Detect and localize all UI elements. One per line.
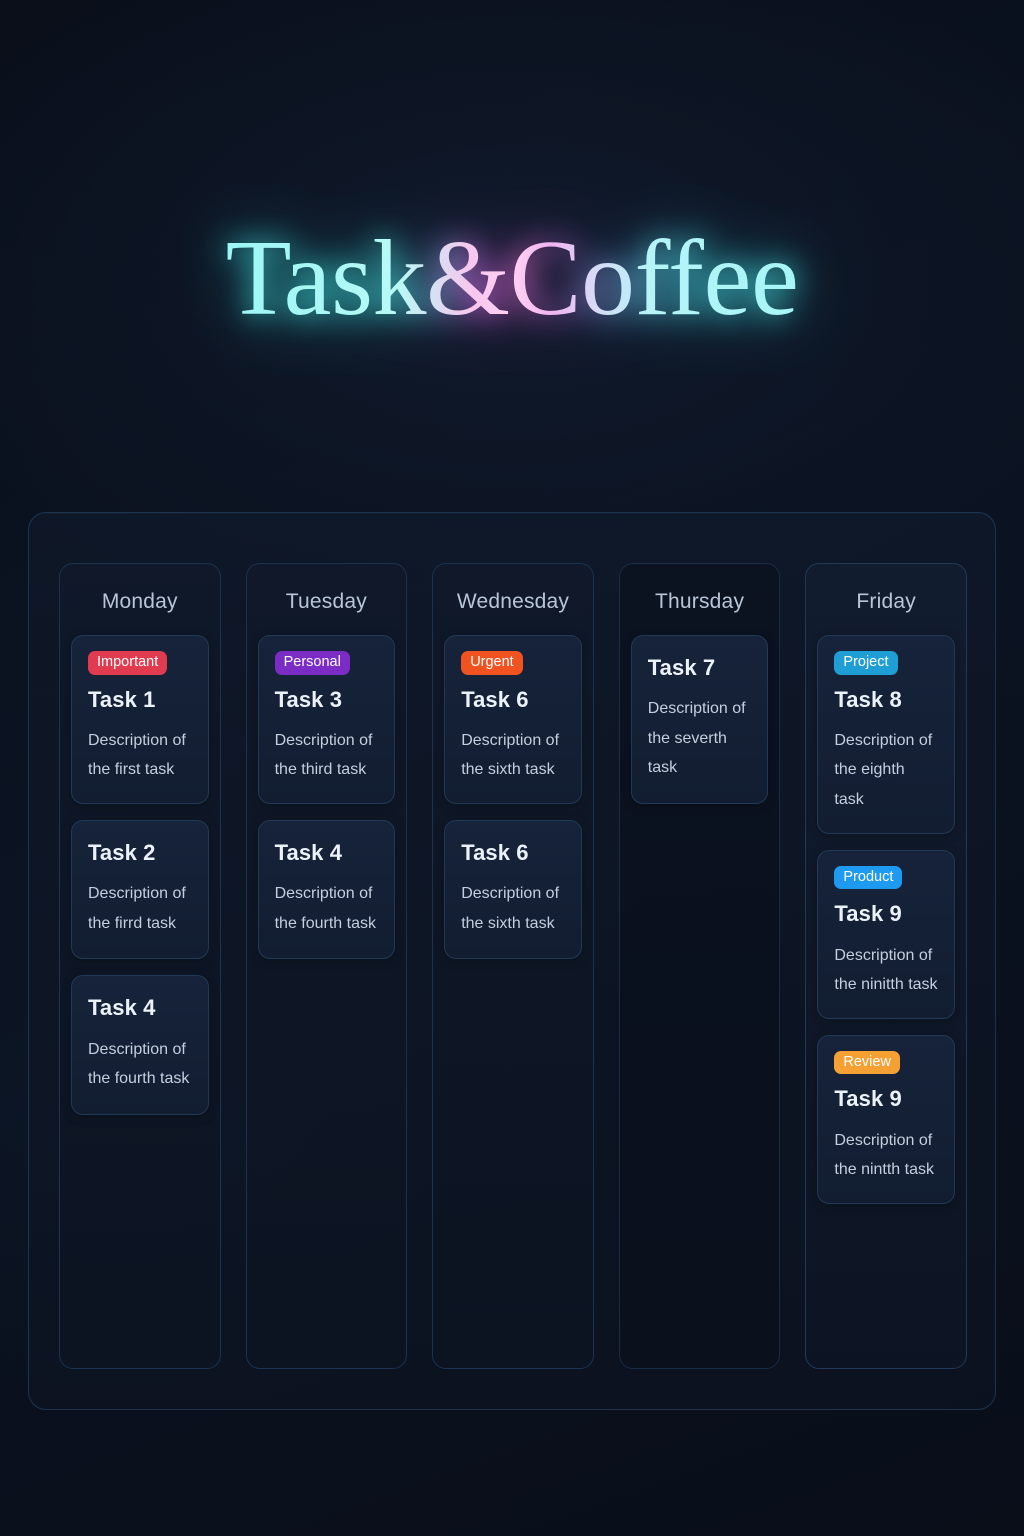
task-card-list: Task 7Description of the severth task xyxy=(631,635,769,804)
task-card[interactable]: PersonalTask 3Description of the third t… xyxy=(258,635,396,804)
task-title: Task 9 xyxy=(834,1087,938,1111)
task-card[interactable]: UrgentTask 6Description of the sixth tas… xyxy=(444,635,582,804)
task-badge: Personal xyxy=(275,651,350,675)
task-badge: Urgent xyxy=(461,651,523,675)
day-column-title: Tuesday xyxy=(258,564,396,635)
task-title: Task 4 xyxy=(88,996,192,1020)
task-card[interactable]: ReviewTask 9Description of the nintth ta… xyxy=(817,1035,955,1204)
day-column-friday[interactable]: FridayProjectTask 8Description of the ei… xyxy=(805,563,967,1369)
task-description: Description of the ninitth task xyxy=(834,941,938,1000)
day-column-wednesday[interactable]: WednesdayUrgentTask 6Description of the … xyxy=(432,563,594,1369)
task-description: Description of the severth task xyxy=(648,694,752,783)
task-title: Task 6 xyxy=(461,841,565,865)
task-title: Task 6 xyxy=(461,688,565,712)
task-badge: Project xyxy=(834,651,897,675)
task-card-list: UrgentTask 6Description of the sixth tas… xyxy=(444,635,582,959)
day-column-thursday[interactable]: ThursdayTask 7Description of the severth… xyxy=(619,563,781,1369)
task-badge: Review xyxy=(834,1051,900,1075)
task-card[interactable]: Task 2Description of the firrd task xyxy=(71,820,209,959)
task-card[interactable]: Task 7Description of the severth task xyxy=(631,635,769,804)
task-badge: Important xyxy=(88,651,167,675)
task-card-list: ImportantTask 1Description of the first … xyxy=(71,635,209,1115)
task-description: Description of the nintth task xyxy=(834,1126,938,1185)
task-card[interactable]: ImportantTask 1Description of the first … xyxy=(71,635,209,804)
day-column-monday[interactable]: MondayImportantTask 1Description of the … xyxy=(59,563,221,1369)
day-column-tuesday[interactable]: TuesdayPersonalTask 3Description of the … xyxy=(246,563,408,1369)
task-title: Task 9 xyxy=(834,902,938,926)
app-title: Task&Coffee Task&Coffee Task&Coffee xyxy=(226,222,799,335)
task-card[interactable]: Task 4Description of the fourth task xyxy=(71,975,209,1114)
day-column-title: Thursday xyxy=(631,564,769,635)
task-title: Task 1 xyxy=(88,688,192,712)
task-description: Description of the sixth task xyxy=(461,879,565,938)
task-card[interactable]: ProjectTask 8Description of the eighth t… xyxy=(817,635,955,834)
app-title-banner: Task&Coffee Task&Coffee Task&Coffee xyxy=(0,222,1024,382)
task-description: Description of the first task xyxy=(88,726,192,785)
task-description: Description of the third task xyxy=(275,726,379,785)
task-description: Description of the fourth task xyxy=(275,879,379,938)
task-card-list: PersonalTask 3Description of the third t… xyxy=(258,635,396,959)
day-column-title: Monday xyxy=(71,564,209,635)
title-core: Task&Coffee xyxy=(226,219,799,338)
task-card[interactable]: Task 4Description of the fourth task xyxy=(258,820,396,959)
task-title: Task 3 xyxy=(275,688,379,712)
task-title: Task 2 xyxy=(88,841,192,865)
task-title: Task 8 xyxy=(834,688,938,712)
task-description: Description of the fourth task xyxy=(88,1035,192,1094)
task-description: Description of the sixth task xyxy=(461,726,565,785)
task-title: Task 4 xyxy=(275,841,379,865)
task-card-list: ProjectTask 8Description of the eighth t… xyxy=(817,635,955,1204)
task-description: Description of the eighth task xyxy=(834,726,938,815)
task-description: Description of the firrd task xyxy=(88,879,192,938)
day-columns: MondayImportantTask 1Description of the … xyxy=(59,563,967,1369)
task-badge: Product xyxy=(834,866,902,890)
day-column-title: Wednesday xyxy=(444,564,582,635)
day-column-title: Friday xyxy=(817,564,955,635)
task-card[interactable]: Task 6Description of the sixth task xyxy=(444,820,582,959)
task-title: Task 7 xyxy=(648,656,752,680)
task-board: MondayImportantTask 1Description of the … xyxy=(28,512,996,1410)
task-card[interactable]: ProductTask 9Description of the ninitth … xyxy=(817,850,955,1019)
